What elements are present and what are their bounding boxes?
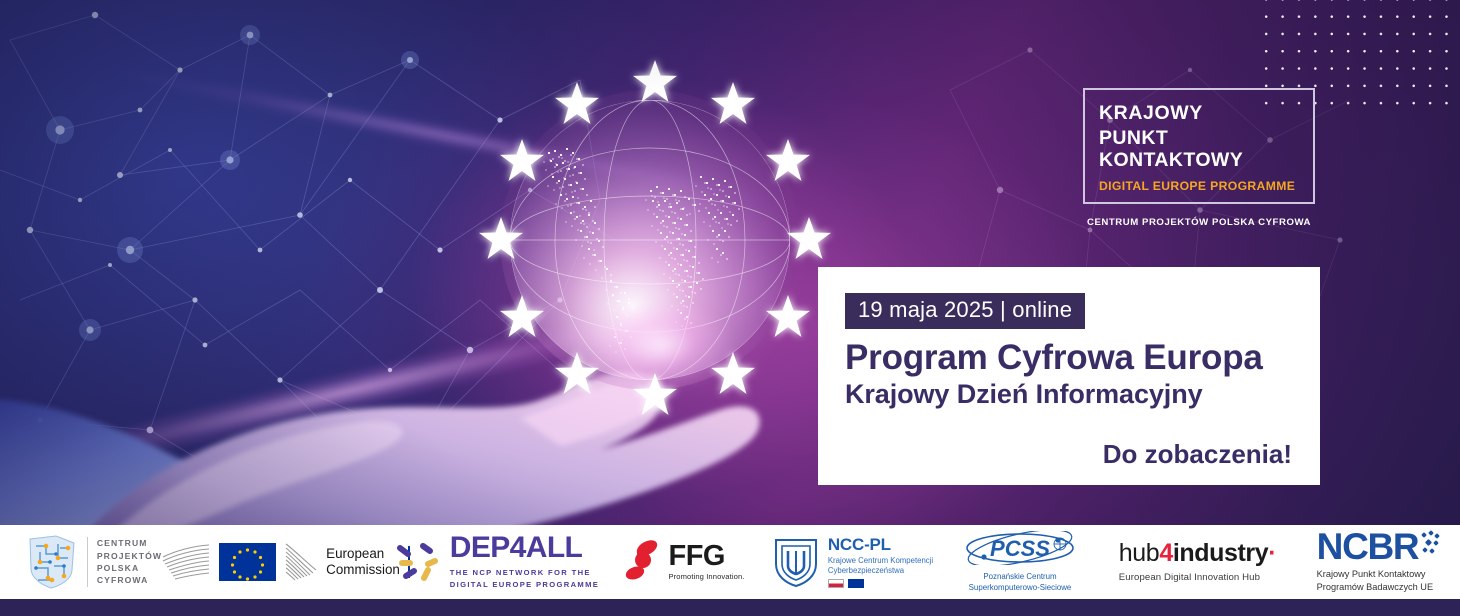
hub4industry-part2: 4 — [1159, 539, 1173, 567]
dep4all-sub-1: THE NCP NETWORK FOR THE — [450, 567, 599, 579]
eu-flag-small-icon — [848, 579, 864, 588]
logo-dep4all[interactable]: DEP4ALL THE NCP NETWORK FOR THE DIGITAL … — [383, 525, 608, 599]
ncc-pl-wordmark: NCC-PL — [828, 536, 933, 553]
ncc-pl-sub-2: Cyberbezpieczeństwa — [828, 566, 933, 576]
pcss-sub-1: Poznańskie Centrum — [964, 572, 1076, 583]
eu-flag-icon — [219, 543, 276, 581]
logo-european-commission[interactable]: European Commission — [188, 525, 383, 599]
logo-ffg[interactable]: FFG Promoting Innovation. — [608, 525, 760, 599]
ncc-pl-flags — [828, 579, 933, 588]
event-title-main: Program Cyfrowa Europa — [845, 339, 1298, 376]
bottom-accent-bar — [0, 599, 1460, 616]
cppc-line-3: POLSKA — [97, 562, 162, 574]
pcss-sub-2: Superkomputerowo-Sieciowe — [964, 583, 1076, 594]
hub4industry-tagline: European Digital Innovation Hub — [1119, 572, 1276, 583]
event-info-card: 19 maja 2025 | online Program Cyfrowa Eu… — [818, 267, 1320, 485]
ncbr-sub-1: Krajowy Punkt Kontaktowy — [1317, 568, 1444, 581]
ffg-wordmark: FFG — [669, 543, 745, 571]
logo-cppc[interactable]: CENTRUM PROJEKTÓW POLSKA CYFROWA — [0, 525, 188, 599]
kpk-logo-block: KRAJOWY PUNKT KONTAKTOWY DIGITAL EUROPE … — [1083, 88, 1315, 228]
dep4all-wordmark: DEP4ALL — [450, 533, 599, 563]
ffg-mark-icon — [624, 540, 662, 584]
event-banner: KRAJOWY PUNKT KONTAKTOWY DIGITAL EUROPE … — [0, 0, 1460, 616]
event-date-badge: 19 maja 2025 | online — [845, 293, 1085, 329]
cppc-text: CENTRUM PROJEKTÓW POLSKA CYFROWA — [87, 537, 162, 587]
cppc-line-2: PROJEKTÓW — [97, 550, 162, 562]
kpk-line1: KRAJOWY — [1099, 102, 1303, 125]
ncc-pl-sub-1: Krajowe Centrum Kompetencji — [828, 556, 933, 566]
ncc-pl-shield-icon — [772, 536, 820, 588]
dep4all-sub-2: DIGITAL EUROPE PROGRAMME — [450, 579, 599, 591]
logo-ncc-pl[interactable]: NCC-PL Krajowe Centrum Kompetencji Cyber… — [760, 525, 945, 599]
kpk-logo-frame: KRAJOWY PUNKT KONTAKTOWY DIGITAL EUROPE … — [1083, 88, 1315, 204]
cppc-shield-icon — [26, 534, 78, 590]
hub4industry-dot: · — [1268, 539, 1276, 567]
ncbr-sub-2: Programów Badawczych UE — [1317, 581, 1444, 594]
kpk-line3-programme: DIGITAL EUROPE PROGRAMME — [1099, 179, 1303, 193]
hub4industry-part1: hub — [1119, 539, 1160, 567]
dep4all-mark-icon — [392, 538, 440, 586]
ffg-tagline: Promoting Innovation. — [669, 572, 745, 581]
poland-flag-icon — [828, 579, 844, 588]
pcss-orbit-icon: PCSS — [964, 531, 1076, 565]
event-cta-text: Do zobaczenia! — [845, 439, 1298, 470]
cppc-line-1: CENTRUM — [97, 537, 162, 549]
kpk-subtitle: CENTRUM PROJEKTÓW POLSKA CYFROWA — [1083, 217, 1315, 228]
hub4industry-part3: industry — [1173, 539, 1268, 567]
ncbr-dots-icon — [1421, 530, 1443, 556]
ec-ribbon-right-icon — [284, 542, 318, 582]
ec-ribbon-left-icon — [161, 542, 211, 582]
cppc-line-4: CYFROWA — [97, 574, 162, 586]
partner-logo-strip: CENTRUM PROJEKTÓW POLSKA CYFROWA — [0, 525, 1460, 599]
event-title-sub: Krajowy Dzień Informacyjny — [845, 380, 1298, 410]
logo-pcss[interactable]: PCSS Poznańskie Centrum Superkomputerowo… — [945, 525, 1095, 599]
hub4industry-wordmark: hub4industry· — [1119, 541, 1276, 566]
logo-ncbr[interactable]: NCBR Krajowy Punkt — [1300, 525, 1460, 599]
logo-hub4industry[interactable]: hub4industry· European Digital Innovatio… — [1095, 525, 1300, 599]
kpk-line2: PUNKT KONTAKTOWY — [1099, 127, 1303, 172]
ncbr-wordmark: NCBR — [1317, 530, 1419, 564]
svg-text:PCSS: PCSS — [990, 536, 1050, 561]
